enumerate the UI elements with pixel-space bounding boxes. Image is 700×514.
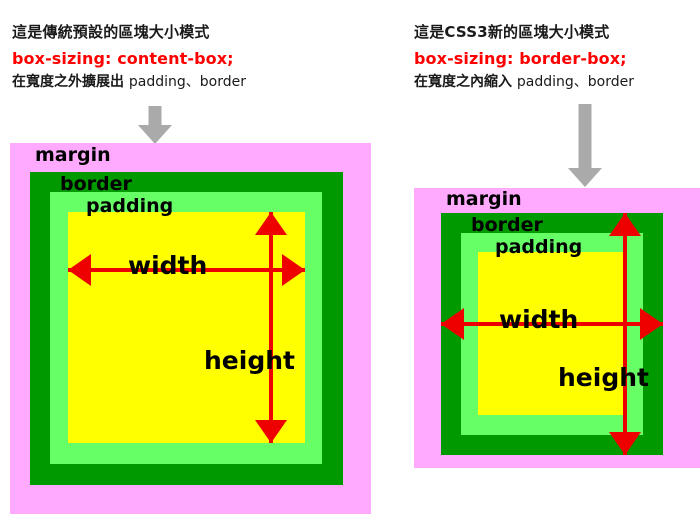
arrow-head	[568, 168, 602, 187]
down-arrow-to-content-box-figure	[134, 106, 176, 144]
dimension-label-height-content-box: height	[204, 348, 295, 373]
down-arrow-to-border-box-figure	[564, 104, 606, 188]
arrow-head-right	[640, 308, 663, 340]
arrow-head-bottom	[255, 420, 287, 443]
caption-note-prefix-border-box: 在寬度之內縮入	[414, 74, 512, 90]
label-margin-content-box: margin	[35, 146, 111, 165]
dimension-arrow-height-border-box	[609, 213, 641, 455]
label-padding-content-box: padding	[86, 197, 173, 216]
caption-note-prefix-content-box: 在寬度之外擴展出	[12, 74, 124, 90]
dimension-label-width-content-box: width	[128, 253, 207, 278]
dimension-label-width-border-box: width	[499, 307, 578, 332]
caption-heading-content-box: 這是傳統預設的區塊大小模式	[12, 22, 246, 44]
arrow-shaft	[579, 104, 592, 170]
arrow-shaft	[269, 212, 273, 443]
label-padding-border-box: padding	[495, 238, 582, 257]
caption-code-content-box: box-sizing: content-box;	[12, 47, 246, 70]
arrow-shaft	[623, 213, 627, 455]
caption-border-box: 這是CSS3新的區塊大小模式 box-sizing: border-box; 在…	[414, 22, 634, 92]
caption-note-border-box: 在寬度之內縮入 padding、border	[414, 72, 634, 92]
caption-heading-border-box: 這是CSS3新的區塊大小模式	[414, 22, 634, 44]
caption-content-box: 這是傳統預設的區塊大小模式 box-sizing: content-box; 在…	[12, 22, 246, 92]
caption-code-border-box: box-sizing: border-box;	[414, 47, 634, 70]
arrow-head	[138, 125, 172, 144]
arrow-head-bottom	[609, 432, 641, 455]
label-border-content-box: border	[60, 175, 132, 194]
diagram-canvas: 這是傳統預設的區塊大小模式 box-sizing: content-box; 在…	[0, 0, 700, 514]
dimension-label-height-border-box: height	[558, 365, 649, 390]
box-model-figure-content-box: margin border padding width height	[10, 143, 371, 514]
label-border-border-box: border	[471, 216, 543, 235]
caption-note-properties-border-box: padding、border	[517, 74, 634, 90]
label-margin-border-box: margin	[446, 190, 522, 209]
caption-note-content-box: 在寬度之外擴展出 padding、border	[12, 72, 246, 92]
arrow-shaft	[149, 106, 162, 127]
dimension-arrow-height-content-box	[255, 212, 287, 443]
box-model-figure-border-box: margin border padding width height	[414, 188, 700, 468]
caption-note-properties-content-box: padding、border	[129, 74, 246, 90]
